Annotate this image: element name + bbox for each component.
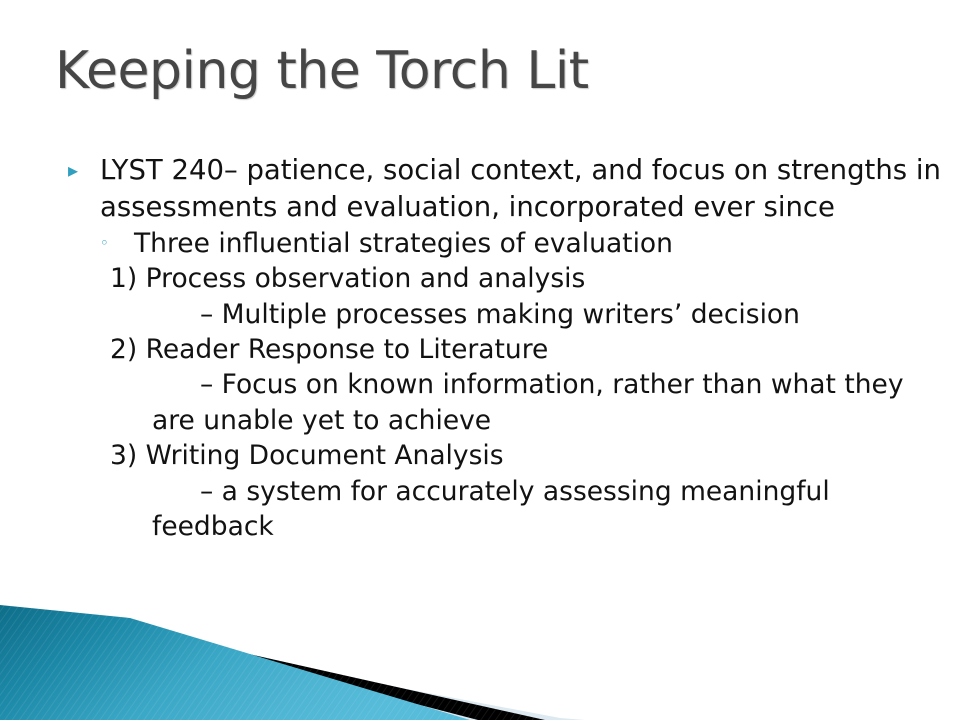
presentation-slide: Keeping the Torch Lit ▸ LYST 240– patien… (0, 0, 960, 720)
bullet-level2-item: ◦ Three influential strategies of evalua… (62, 226, 942, 261)
dash-item-2: – Focus on known information, rather tha… (62, 367, 942, 438)
triangle-bullet-icon: ▸ (68, 153, 78, 187)
band-texture (0, 590, 960, 720)
bullet-level1-item: ▸ LYST 240– patience, social context, an… (62, 152, 942, 225)
dash-item-3: – a system for accurately assessing mean… (62, 474, 942, 545)
numbered-item-3: 3) Writing Document Analysis (62, 438, 942, 473)
circle-bullet-icon: ◦ (100, 226, 109, 261)
dash-item-1: – Multiple processes making writers’ dec… (62, 297, 942, 332)
black-stripe (92, 620, 545, 720)
bullet-level2-text: Three influential strategies of evaluati… (134, 228, 673, 259)
bullet-level1-text: LYST 240– patience, social context, and … (100, 154, 941, 223)
teal-gradient-triangle (0, 605, 470, 720)
numbered-item-1: 1) Process observation and analysis (62, 261, 942, 296)
slide-body-content: ▸ LYST 240– patience, social context, an… (62, 152, 942, 544)
decorative-corner-band (0, 590, 960, 720)
numbered-item-2: 2) Reader Response to Literature (62, 332, 942, 367)
pale-stripe (0, 612, 585, 720)
page-title: Keeping the Torch Lit (55, 44, 905, 99)
